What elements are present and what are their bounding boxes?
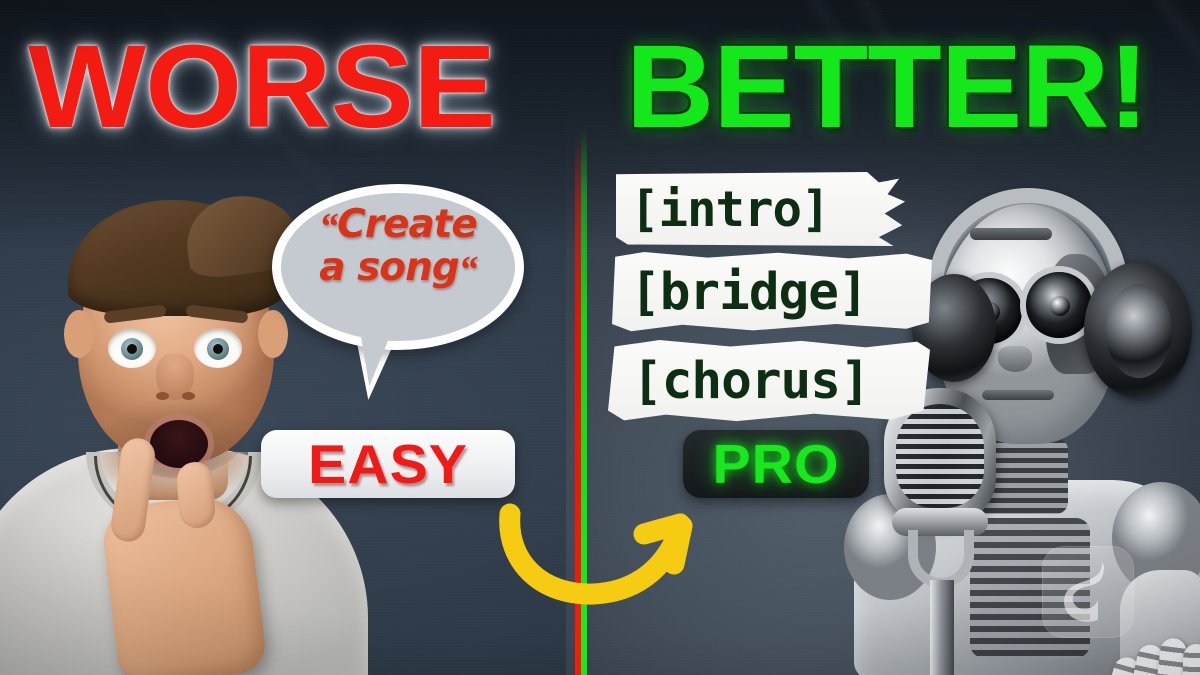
person-finger [176,461,217,529]
curved-arrow-icon [496,498,706,614]
tag-intro-label: [intro] [616,181,830,238]
close-quote: “ [459,249,477,291]
headline-better: BETTER! [626,28,1148,146]
suno-logo-watermark [1042,546,1134,638]
badge-pro-label: PRO [679,430,872,498]
person-pupil-right [213,344,223,354]
microphone-icon [880,388,1008,675]
bubble-line-2: a song [319,245,459,290]
speech-bubble: “Create a song“ [272,184,524,384]
tag-chorus: [chorus] [608,340,930,422]
bubble-line-1: Create [337,202,477,247]
robot-pupil-right [1050,296,1070,316]
microphone-grill [896,404,984,508]
badge-easy: EASY [261,430,515,498]
person-nostril-right [182,392,195,400]
speech-bubble-text: “Create a song“ [272,204,524,291]
person-open-mouth [150,420,208,468]
headphone-earcup-inner [1106,284,1172,378]
open-quote: “ [319,206,337,248]
robot-forehead-slot [970,228,1052,240]
tag-bridge: [bridge] [612,252,932,332]
badge-pro: PRO [683,430,869,498]
tag-chorus-label: [chorus] [608,352,870,411]
badge-easy-label: EASY [256,430,520,498]
person-pupil-left [127,344,137,354]
person-nostril-left [156,392,169,400]
headline-worse: WORSE [28,28,495,146]
robot-nose [998,346,1032,372]
robot-hand [1102,638,1200,675]
tag-bridge-label: [bridge] [612,263,868,322]
person-ear-left [64,310,94,358]
thumbnail-canvas: WORSE BETTER! “Create a song“ EASY [intr… [0,0,1200,675]
suno-s-icon [1060,558,1116,626]
microphone-stand [930,580,954,675]
tag-intro: [intro] [616,172,908,246]
